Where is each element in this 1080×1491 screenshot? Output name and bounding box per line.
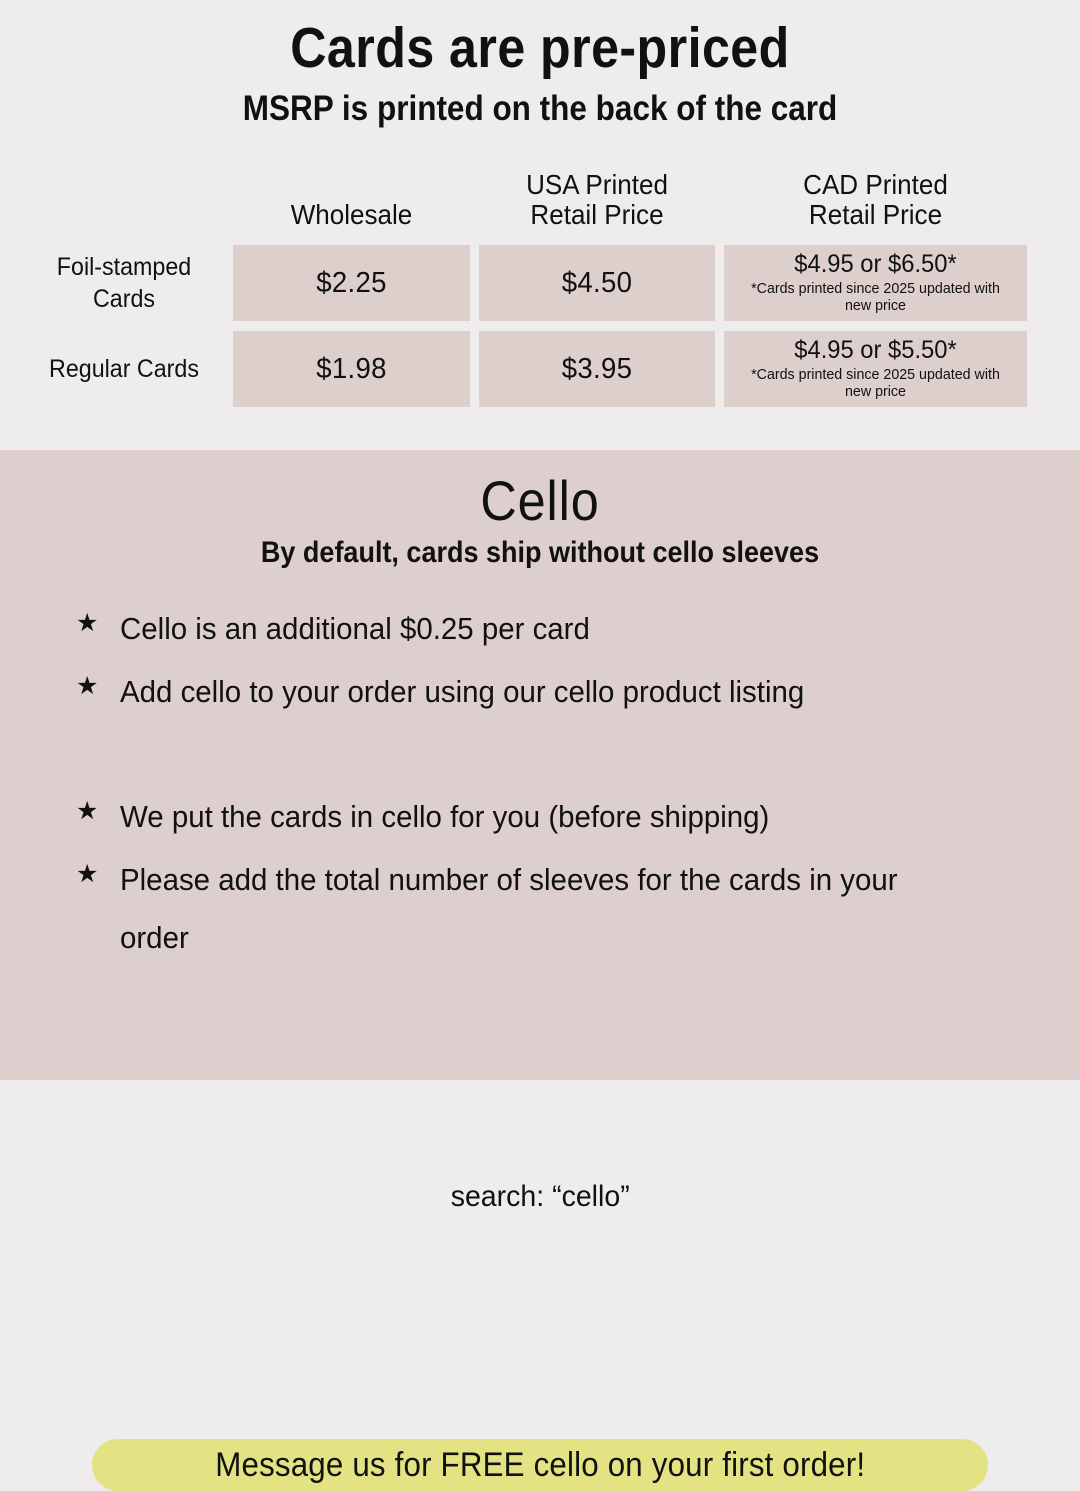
column-header-cad-line1: CAD Printed bbox=[803, 169, 948, 200]
cello-bullet-list-top: ★ Cello is an additional $0.25 per card … bbox=[76, 600, 1016, 727]
infographic-page: Cards are pre-priced MSRP is printed on … bbox=[0, 0, 1080, 1080]
cell-foil-usa-retail: $4.50 bbox=[479, 245, 715, 321]
price-value: $3.95 bbox=[491, 353, 704, 386]
list-item-label: Add cello to your order using our cello … bbox=[120, 663, 971, 720]
price-value: $4.50 bbox=[491, 267, 704, 300]
search-hint-label: search: “cello” bbox=[451, 1180, 630, 1214]
page-title: Cards are pre-priced bbox=[65, 16, 1015, 82]
price-footnote: *Cards printed since 2025 updated with n… bbox=[737, 366, 1013, 401]
search-hint-pill: search: “cello” bbox=[360, 1173, 720, 1221]
page-subtitle: MSRP is printed on the back of the card bbox=[54, 88, 1026, 130]
list-item-label: Please add the total number of sleeves f… bbox=[120, 851, 971, 966]
cell-regular-usa-retail: $3.95 bbox=[479, 331, 715, 407]
cell-foil-wholesale: $2.25 bbox=[233, 245, 470, 321]
cello-title: Cello bbox=[54, 468, 1026, 533]
list-item-label: Cello is an additional $0.25 per card bbox=[120, 600, 971, 657]
star-icon: ★ bbox=[76, 788, 120, 834]
list-item-label: We put the cards in cello for you (befor… bbox=[120, 788, 971, 845]
column-header-wholesale: Wholesale bbox=[241, 170, 461, 235]
price-value: $2.25 bbox=[245, 267, 459, 300]
star-icon: ★ bbox=[76, 851, 120, 897]
list-item: ★ We put the cards in cello for you (bef… bbox=[76, 788, 1016, 845]
cello-subtitle: By default, cards ship without cello sle… bbox=[54, 536, 1026, 570]
row-header-regular-cards: Regular Cards bbox=[31, 331, 217, 407]
price-value: $4.95 or $6.50* bbox=[737, 252, 1013, 277]
row-header-line1: Foil-stamped bbox=[57, 253, 191, 281]
list-item: ★ Please add the total number of sleeves… bbox=[76, 851, 1016, 966]
column-header-wholesale-label: Wholesale bbox=[291, 199, 413, 230]
row-header-line1: Regular Cards bbox=[49, 355, 199, 383]
column-header-usa-retail: USA Printed Retail Price bbox=[487, 170, 706, 235]
table-row: Regular Cards $1.98 $3.95 $4.95 or $5.50… bbox=[24, 331, 1027, 407]
pricing-section: Cards are pre-priced MSRP is printed on … bbox=[0, 0, 1080, 450]
list-item: ★ Add cello to your order using our cell… bbox=[76, 663, 1016, 720]
pricing-table-wrapper: Wholesale USA Printed Retail Price CAD P… bbox=[0, 160, 1080, 417]
list-item: ★ Cello is an additional $0.25 per card bbox=[76, 600, 1016, 657]
column-header-usa-line2: Retail Price bbox=[530, 199, 663, 230]
price-value: $1.98 bbox=[245, 353, 459, 386]
free-cello-banner-label: Message us for FREE cello on your first … bbox=[215, 1446, 865, 1485]
free-cello-banner: Message us for FREE cello on your first … bbox=[92, 1439, 988, 1491]
row-header-foil-stamped: Foil-stamped Cards bbox=[31, 245, 217, 321]
price-footnote: *Cards printed since 2025 updated with n… bbox=[737, 280, 1013, 315]
cell-foil-cad-retail: $4.95 or $6.50* *Cards printed since 202… bbox=[724, 245, 1027, 321]
row-header-line2: Cards bbox=[93, 285, 155, 313]
price-value: $4.95 or $5.50* bbox=[737, 338, 1013, 363]
table-row: Foil-stamped Cards $2.25 $4.50 $4.95 or … bbox=[24, 245, 1027, 321]
column-header-cad-line2: Retail Price bbox=[809, 199, 942, 230]
star-icon: ★ bbox=[76, 663, 120, 709]
cello-bullet-list-bottom: ★ We put the cards in cello for you (bef… bbox=[76, 788, 1016, 972]
column-header-usa-line1: USA Printed bbox=[526, 169, 668, 200]
column-header-cad-retail: CAD Printed Retail Price bbox=[735, 170, 1017, 235]
corner-cell bbox=[31, 170, 217, 235]
cello-section: Cello By default, cards ship without cel… bbox=[0, 450, 1080, 1080]
pricing-table: Wholesale USA Printed Retail Price CAD P… bbox=[15, 160, 1036, 417]
star-icon: ★ bbox=[76, 600, 120, 646]
cell-regular-wholesale: $1.98 bbox=[233, 331, 470, 407]
cell-regular-cad-retail: $4.95 or $5.50* *Cards printed since 202… bbox=[724, 331, 1027, 407]
table-header-row: Wholesale USA Printed Retail Price CAD P… bbox=[24, 170, 1027, 235]
